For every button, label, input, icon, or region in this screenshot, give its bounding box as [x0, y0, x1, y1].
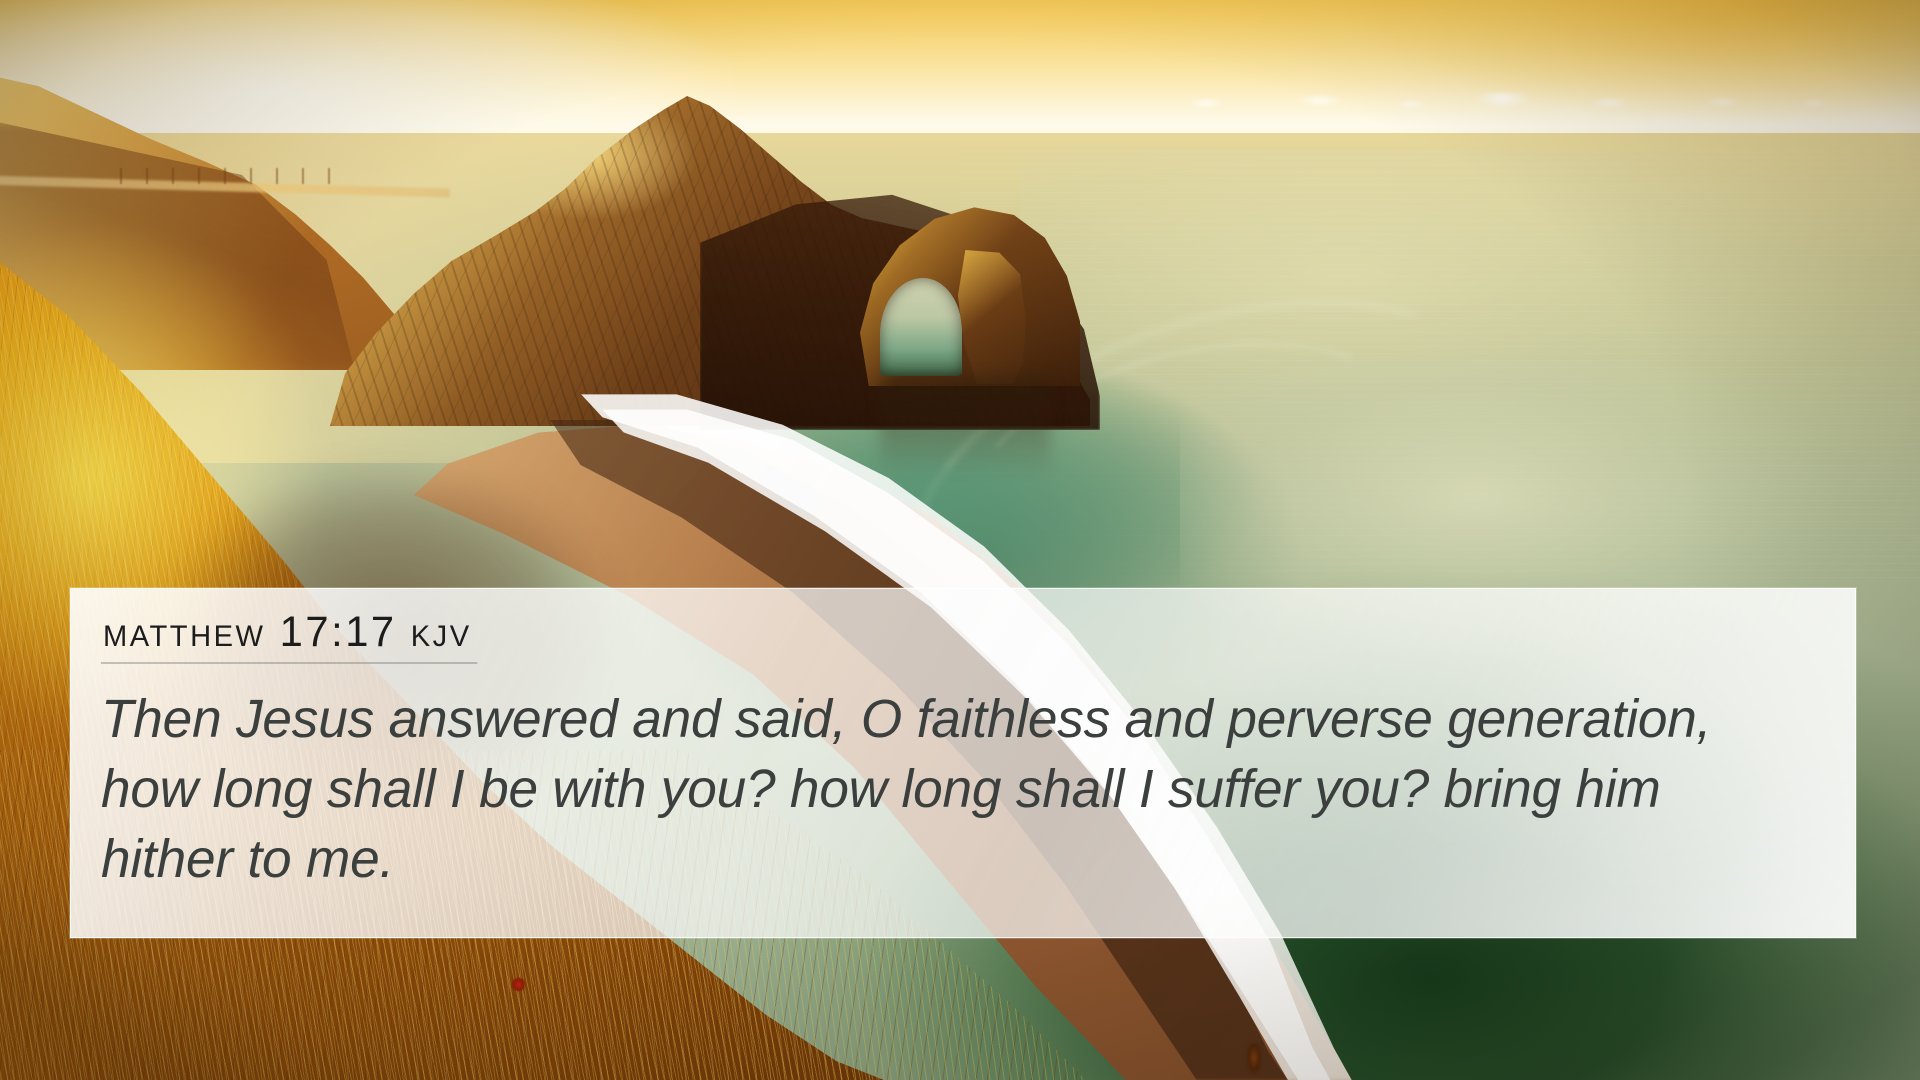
verse-reference: Matthew 17:17 KJV	[101, 611, 477, 664]
verse-card: Matthew 17:17 KJV Then Jesus answered an…	[70, 588, 1856, 938]
sea-arch-opening	[880, 278, 962, 376]
grass-seed-head	[1246, 1044, 1262, 1078]
verse-text: Then Jesus answered and said, O faithles…	[101, 684, 1776, 895]
red-poppy	[512, 978, 525, 991]
cloud-band	[1100, 92, 1860, 112]
wallpaper-canvas: Matthew 17:17 KJV Then Jesus answered an…	[0, 0, 1920, 1080]
sun-glow	[0, 0, 900, 150]
sea-arch-reflection	[880, 378, 1050, 488]
sky-warm-glow	[1140, 0, 1920, 140]
cliff-fence-posts	[120, 168, 340, 184]
